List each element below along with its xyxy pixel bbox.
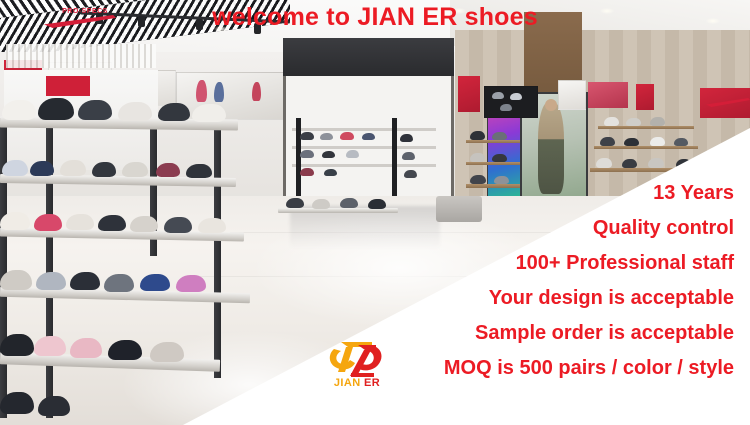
shoe xyxy=(470,131,485,140)
shoe xyxy=(2,160,28,176)
jian-er-monogram-icon xyxy=(324,336,390,378)
shoe xyxy=(324,169,337,176)
shoe xyxy=(0,270,32,290)
storefront-shelf xyxy=(292,164,436,167)
shoe xyxy=(36,272,66,290)
shoe xyxy=(650,137,665,146)
storefront-header xyxy=(283,38,454,76)
shoe xyxy=(66,214,94,230)
storefront-interior-logo xyxy=(46,76,90,96)
shoe xyxy=(38,396,70,416)
shoe xyxy=(492,132,507,140)
shoe xyxy=(674,138,688,146)
shoe xyxy=(300,168,314,176)
shoe xyxy=(70,338,102,358)
shoe xyxy=(600,137,615,146)
shoe xyxy=(346,150,359,158)
shoe xyxy=(130,216,158,232)
shoe xyxy=(340,132,354,140)
feature-line-years: 13 Years xyxy=(174,176,734,211)
page-title: welcome to JIAN ER shoes xyxy=(0,2,750,32)
shoe xyxy=(92,162,116,177)
shoe xyxy=(192,104,226,122)
shelf xyxy=(466,140,520,143)
wall-poster-red xyxy=(636,84,654,110)
shoe xyxy=(98,215,126,231)
wall-poster-dark xyxy=(484,86,538,118)
shoe xyxy=(158,103,190,121)
shoe xyxy=(510,93,522,100)
wall-poster-red xyxy=(458,76,480,112)
shoe xyxy=(34,336,66,356)
feature-line-quality: Quality control xyxy=(174,211,734,246)
shoe xyxy=(362,133,375,140)
logo-word-er: ER xyxy=(364,377,380,389)
wall-poster xyxy=(558,80,586,110)
feature-line-design: Your design is acceptable xyxy=(174,281,734,316)
shelf xyxy=(594,146,698,149)
feature-line-sample: Sample order is acceptable xyxy=(174,316,734,351)
banner-figure xyxy=(196,80,207,102)
signage-model-head xyxy=(545,99,557,111)
shoe xyxy=(60,160,86,176)
shoe xyxy=(2,100,36,120)
banner-figure xyxy=(252,82,261,101)
shoe xyxy=(78,100,112,120)
shoe xyxy=(34,214,62,231)
shoe xyxy=(300,132,314,140)
shoe xyxy=(0,334,34,356)
shoe xyxy=(320,133,333,140)
shoe xyxy=(624,138,639,146)
shoe xyxy=(104,274,134,292)
storefront-shelf xyxy=(292,128,436,131)
shoe xyxy=(402,152,415,160)
shoe xyxy=(622,159,637,168)
shelf xyxy=(598,126,694,129)
shoe xyxy=(322,151,335,158)
shoe xyxy=(492,92,504,99)
brand-logo: JIAN ER xyxy=(316,336,398,398)
shoe xyxy=(648,158,664,168)
shoe xyxy=(300,150,314,158)
shoe xyxy=(596,158,612,168)
shoe xyxy=(0,212,30,230)
shelf xyxy=(466,162,520,165)
shoe xyxy=(140,274,170,291)
banner-figure xyxy=(214,82,224,102)
storefront-shelf xyxy=(292,146,436,149)
shoe xyxy=(38,98,74,120)
shoe xyxy=(108,340,142,360)
storefront-grid-ceiling xyxy=(6,44,156,68)
shoe xyxy=(500,104,512,111)
shoe xyxy=(70,272,100,290)
shoe xyxy=(400,134,413,142)
promo-banner: PRO-SPECS xyxy=(0,0,750,425)
shoe xyxy=(604,117,619,126)
shoe xyxy=(650,117,665,126)
shoe xyxy=(0,392,34,414)
shoe xyxy=(118,102,152,121)
feature-line-moq: MOQ is 500 pairs / color / style xyxy=(174,351,734,386)
shoe xyxy=(626,118,641,126)
wall-poster-red xyxy=(588,82,628,108)
feature-line-staff: 100+ Professional staff xyxy=(174,246,734,281)
logo-wordmark: JIAN ER xyxy=(316,377,398,390)
shoe xyxy=(156,163,180,177)
shoe xyxy=(470,153,485,162)
shoe xyxy=(122,162,148,177)
shoe xyxy=(492,154,507,162)
feature-list: 13 Years Quality control 100+ Profession… xyxy=(174,176,734,386)
shoe xyxy=(30,161,54,176)
logo-word-jian: JIAN xyxy=(334,377,364,389)
